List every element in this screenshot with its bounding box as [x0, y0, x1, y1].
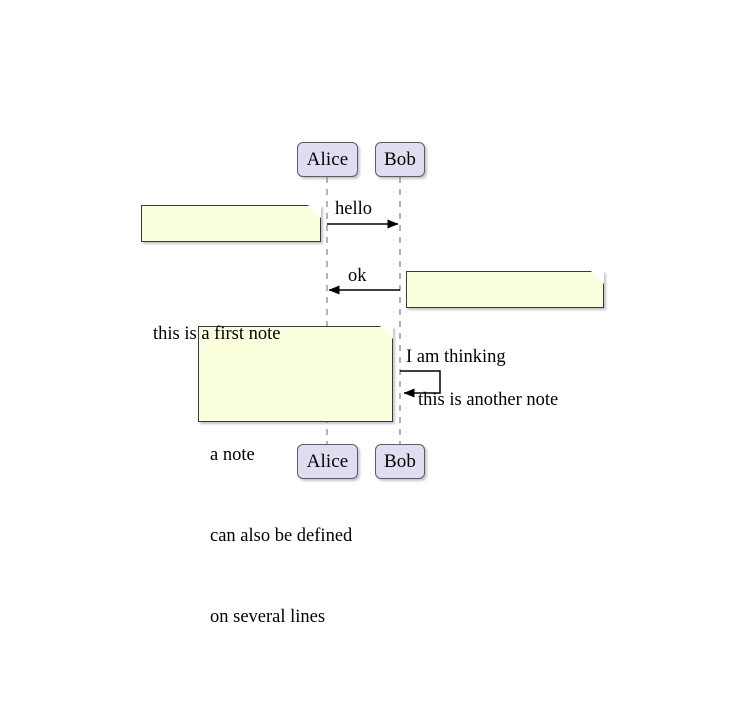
participant-head-bob[interactable]: Bob	[375, 142, 425, 177]
message-label-ok: ok	[348, 267, 367, 286]
participant-head-alice[interactable]: Alice	[297, 142, 358, 177]
note-left-of-alice[interactable]: this is a first note	[141, 205, 321, 242]
note-fold-corner-icon	[380, 326, 393, 339]
note-line: this is another note	[418, 387, 591, 414]
sequence-diagram-canvas: Alice Bob Alice Bob this is a first note…	[0, 0, 746, 620]
note-line: on several lines	[210, 604, 380, 631]
message-label-hello: hello	[335, 200, 372, 219]
note-fold-corner-icon	[591, 271, 604, 284]
note-right-of-bob[interactable]: this is another note	[406, 271, 604, 308]
note-line: this is a first note	[153, 321, 308, 348]
note-fold-corner-icon	[308, 205, 321, 218]
note-line: can also be defined	[210, 523, 380, 550]
note-line: a note	[210, 442, 380, 469]
